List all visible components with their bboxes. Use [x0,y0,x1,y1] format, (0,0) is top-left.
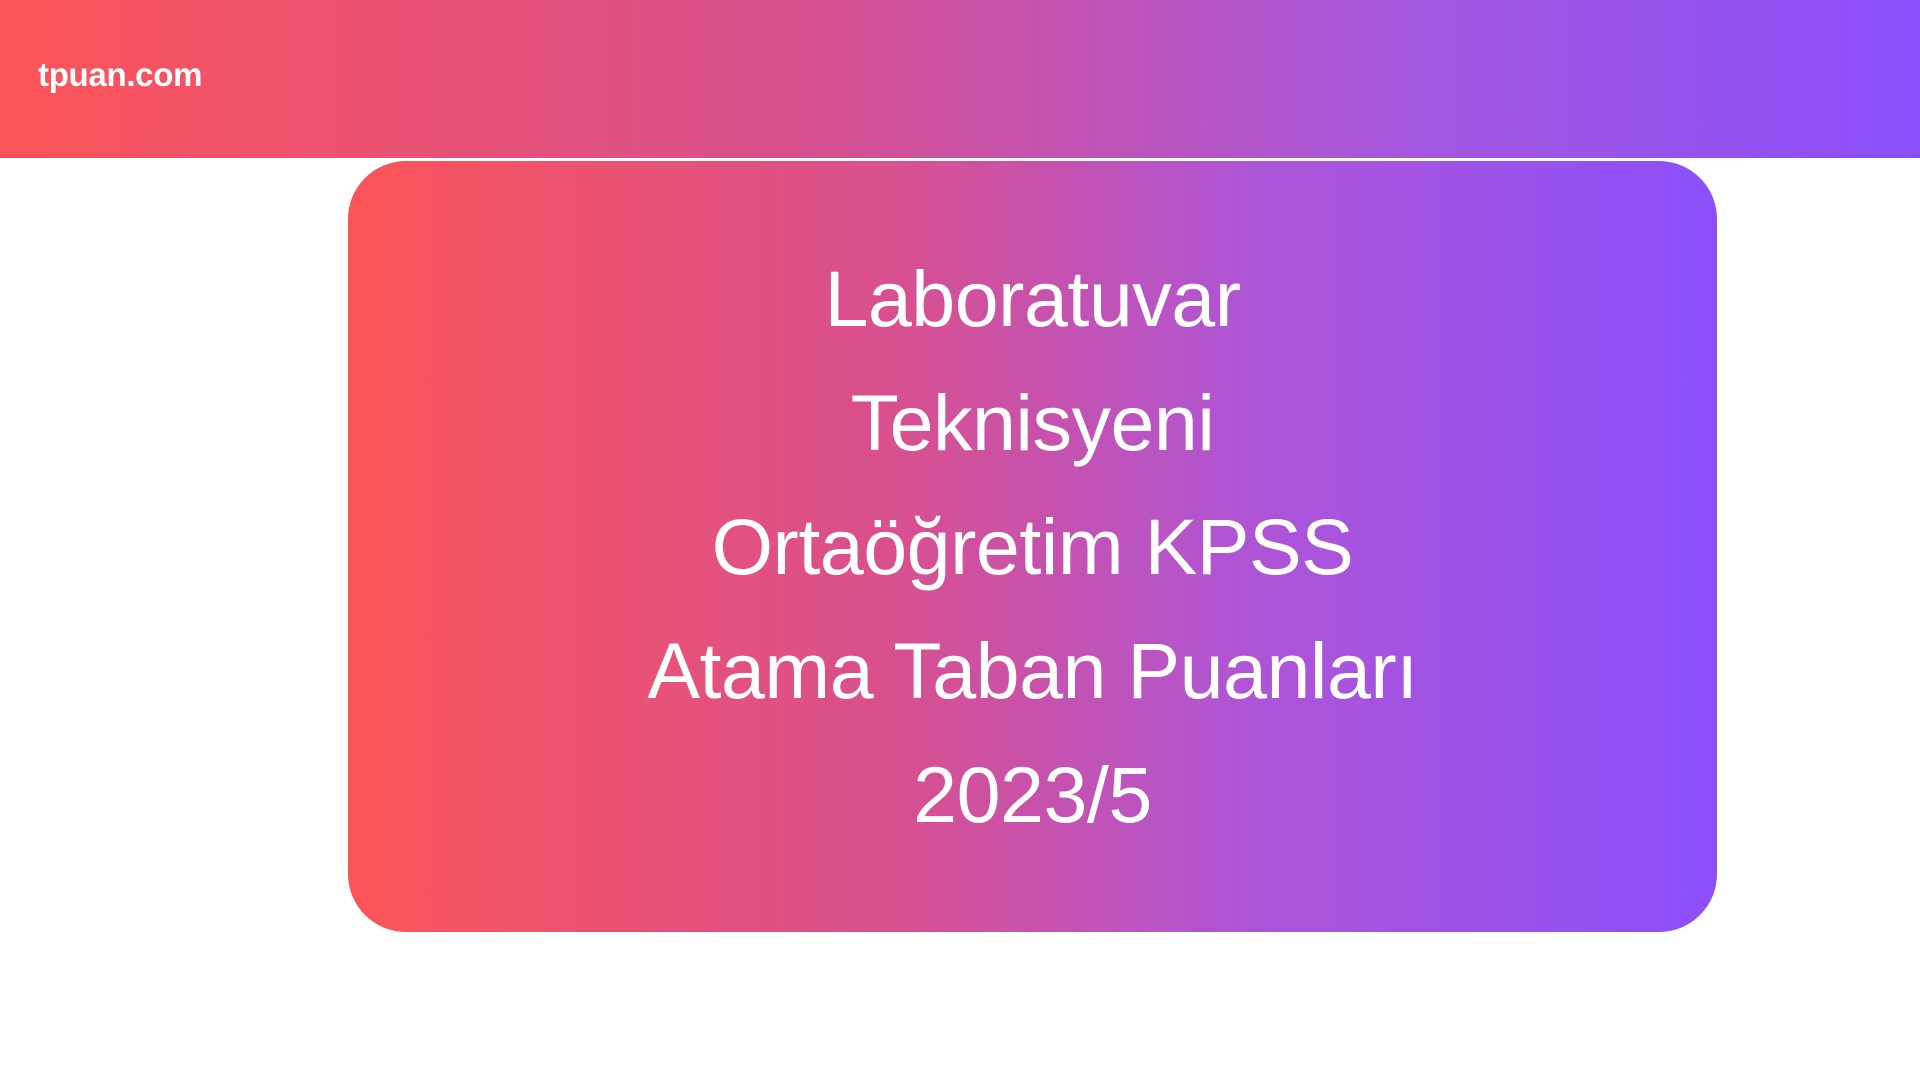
page-title-line-3: Ortaöğretim KPSS [348,485,1717,609]
page-title-line-1: Laboratuvar [348,237,1717,361]
site-logo[interactable]: tpuan.com [38,58,202,91]
page-title-line-4: Atama Taban Puanları [348,609,1717,733]
page-title: Laboratuvar Teknisyeni Ortaöğretim KPSS … [348,237,1717,857]
page-title-line-5: 2023/5 [348,733,1717,857]
hero-title-card: Laboratuvar Teknisyeni Ortaöğretim KPSS … [348,161,1717,932]
site-header: tpuan.com [0,0,1920,158]
page-title-line-2: Teknisyeni [348,361,1717,485]
